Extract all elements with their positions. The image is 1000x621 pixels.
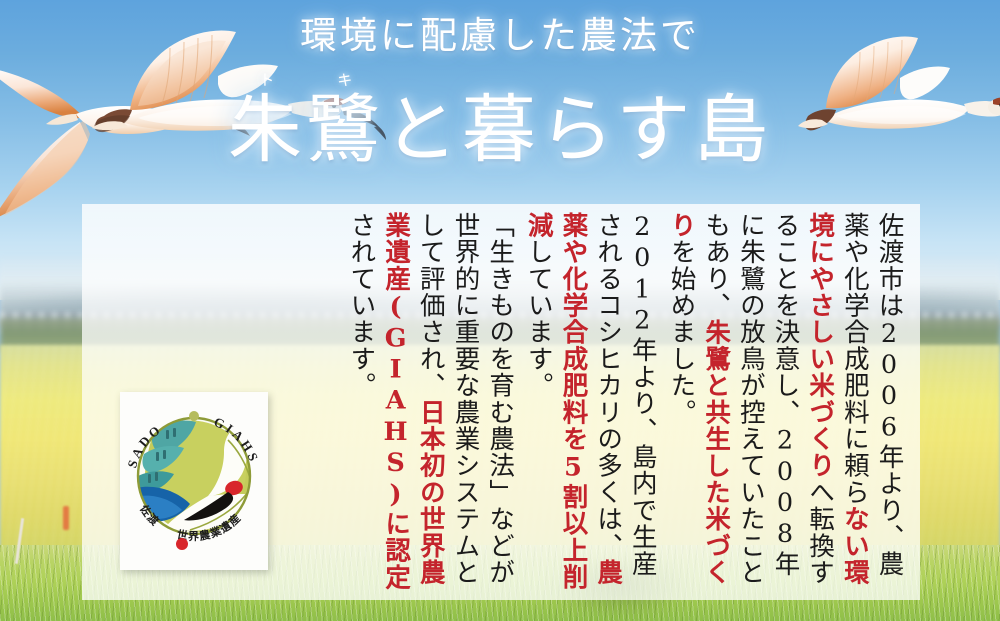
text-run-normal-3: されています。 bbox=[346, 212, 376, 399]
paragraph-1: 佐渡市は2006年より、農薬や化学合成肥料に頼らない環境にやさしい米づくりへ転換… bbox=[663, 212, 906, 592]
logo-bottom-dot bbox=[176, 538, 188, 550]
logo-top-dot bbox=[189, 411, 199, 421]
poster-root: 環境に配慮した農法で ト キ 朱鷺と暮らす島 佐渡市は2006年より、農薬や化学… bbox=[0, 0, 1000, 621]
giahs-certification-logo: SADO GIAHS 佐渡 世界農業遺産 bbox=[120, 392, 268, 570]
paragraph-2: 2012年より、島内で生産されるコシヒカリの多くは、農薬や化学合成肥料を5割以上… bbox=[521, 212, 660, 592]
text-run-normal-2: しています。 bbox=[523, 239, 553, 399]
crested-ibis-right bbox=[790, 22, 1000, 172]
text-run-normal-0: 「生きものを育む農法」など bbox=[485, 212, 515, 559]
text-run-normal-4: を始めました。 bbox=[666, 239, 696, 426]
paragraph-3: 「生きものを育む農法」などが世界的に重要な農業システムとして評価され、日本初の世… bbox=[343, 212, 516, 592]
field-marker bbox=[63, 506, 69, 530]
text-run-normal-0: 2012年より、島内で生産されるコシヒカリの多くは、 bbox=[593, 212, 658, 577]
crested-ibis-left-near bbox=[78, 18, 390, 198]
